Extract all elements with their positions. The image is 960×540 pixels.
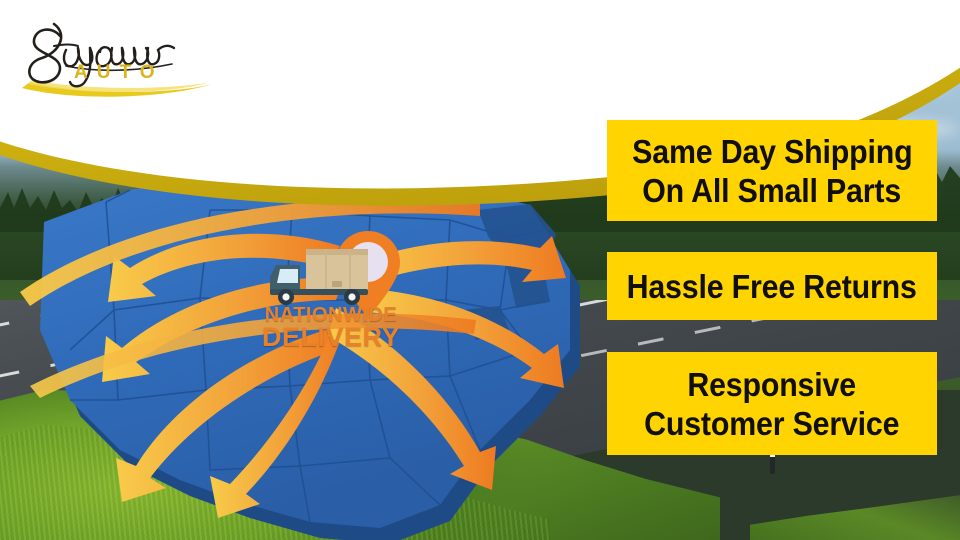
nationwide-delivery-label: NATIONWIDE DELIVERY [256, 306, 406, 350]
banner-line-1: Responsive [688, 368, 857, 401]
banner-same-day-shipping[interactable]: Same Day Shipping On All Small Parts [607, 120, 937, 221]
svg-text:AUTO: AUTO [74, 62, 163, 83]
banner-line-2: On All Small Parts [643, 174, 902, 207]
seymour-auto-logo[interactable]: AUTO [8, 10, 223, 106]
delivery-truck-icon [270, 249, 368, 305]
delivery-line: DELIVERY [256, 325, 406, 350]
banner-hassle-free-returns[interactable]: Hassle Free Returns [607, 252, 937, 320]
logo-auto-text: AUTO [74, 62, 163, 83]
banner-line-1: Same Day Shipping [632, 135, 912, 168]
banner-line-2: Customer Service [644, 407, 899, 440]
banner-responsive-customer-service[interactable]: Responsive Customer Service [607, 352, 937, 455]
promo-slide: NATIONWIDE DELIVERY [0, 0, 960, 540]
banner-line-1: Hassle Free Returns [627, 270, 917, 303]
